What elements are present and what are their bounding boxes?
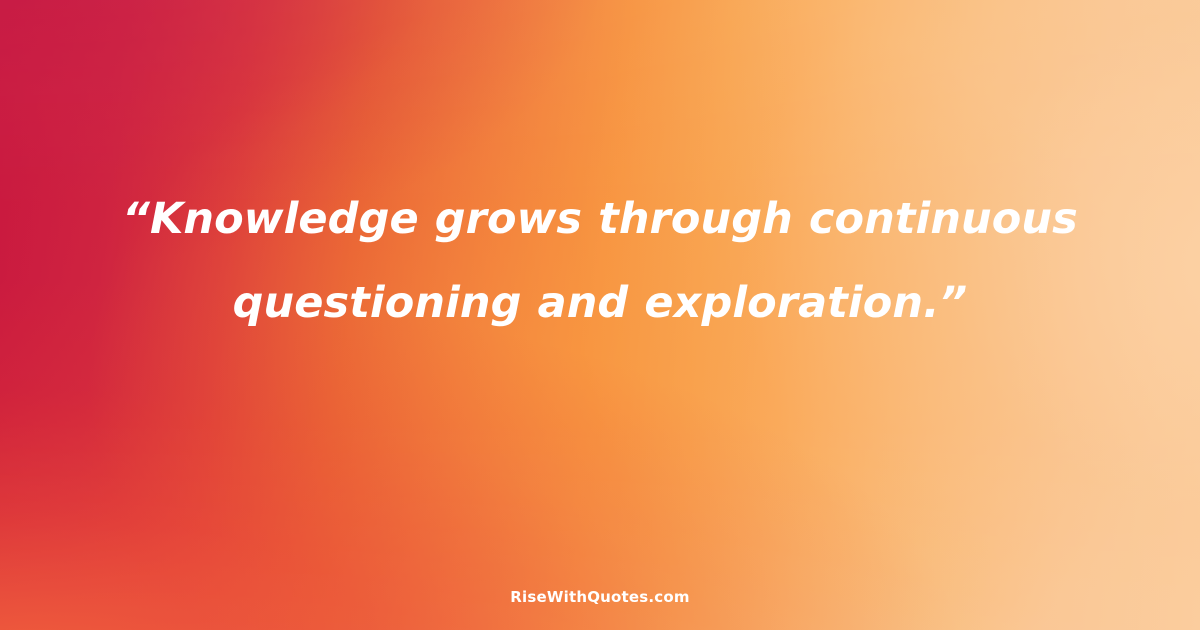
attribution-site-label: RiseWithQuotes.com — [510, 588, 689, 606]
attribution: RiseWithQuotes.com — [0, 587, 1200, 606]
quote-block: “Knowledge grows through continuous ques… — [0, 178, 1200, 346]
card-content: “Knowledge grows through continuous ques… — [0, 0, 1200, 630]
quote-text: “Knowledge grows through continuous ques… — [96, 178, 1104, 346]
quote-card: “Knowledge grows through continuous ques… — [0, 0, 1200, 630]
